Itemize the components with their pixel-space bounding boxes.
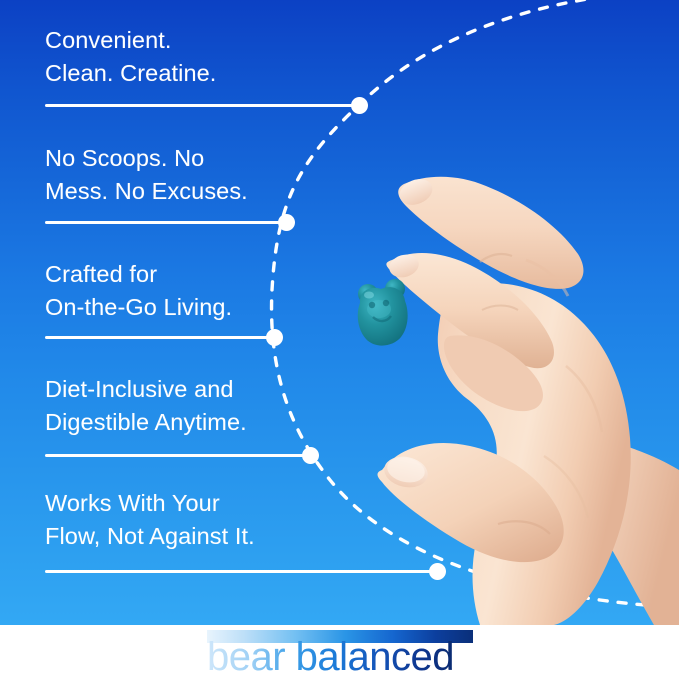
feature-block-2: No Scoops. No Mess. No Excuses. xyxy=(45,142,248,207)
feature-text-2: No Scoops. No Mess. No Excuses. xyxy=(45,142,248,207)
feature-block-4: Diet-Inclusive and Digestible Anytime. xyxy=(45,373,247,438)
feature-dot-5 xyxy=(429,563,446,580)
brand-logo: bear balanced xyxy=(207,630,473,678)
feature-rule-4 xyxy=(45,454,310,457)
footer-bar: bear balanced xyxy=(0,625,679,678)
feature-block-1: Convenient. Clean. Creatine. xyxy=(45,24,216,89)
svg-text:bear balanced: bear balanced xyxy=(207,636,454,678)
feature-block-5: Works With Your Flow, Not Against It. xyxy=(45,487,255,552)
feature-rule-5 xyxy=(45,570,437,573)
feature-text-1: Convenient. Clean. Creatine. xyxy=(45,24,216,89)
feature-block-3: Crafted for On-the-Go Living. xyxy=(45,258,232,323)
feature-text-3: Crafted for On-the-Go Living. xyxy=(45,258,232,323)
feature-rule-3 xyxy=(45,336,274,339)
logo-wordmark: bear balanced xyxy=(207,636,473,678)
feature-dot-4 xyxy=(302,447,319,464)
product-marketing-image: Convenient. Clean. Creatine. No Scoops. … xyxy=(0,0,679,678)
feature-text-5: Works With Your Flow, Not Against It. xyxy=(45,487,255,552)
feature-dot-1 xyxy=(351,97,368,114)
feature-rule-1 xyxy=(45,104,359,107)
gummy-bear-product xyxy=(358,279,408,346)
blue-background-panel: Convenient. Clean. Creatine. No Scoops. … xyxy=(0,0,679,625)
feature-text-4: Diet-Inclusive and Digestible Anytime. xyxy=(45,373,247,438)
hand-holding-gummy-photo xyxy=(330,170,679,625)
feature-dot-3 xyxy=(266,329,283,346)
feature-rule-2 xyxy=(45,221,286,224)
feature-dot-2 xyxy=(278,214,295,231)
